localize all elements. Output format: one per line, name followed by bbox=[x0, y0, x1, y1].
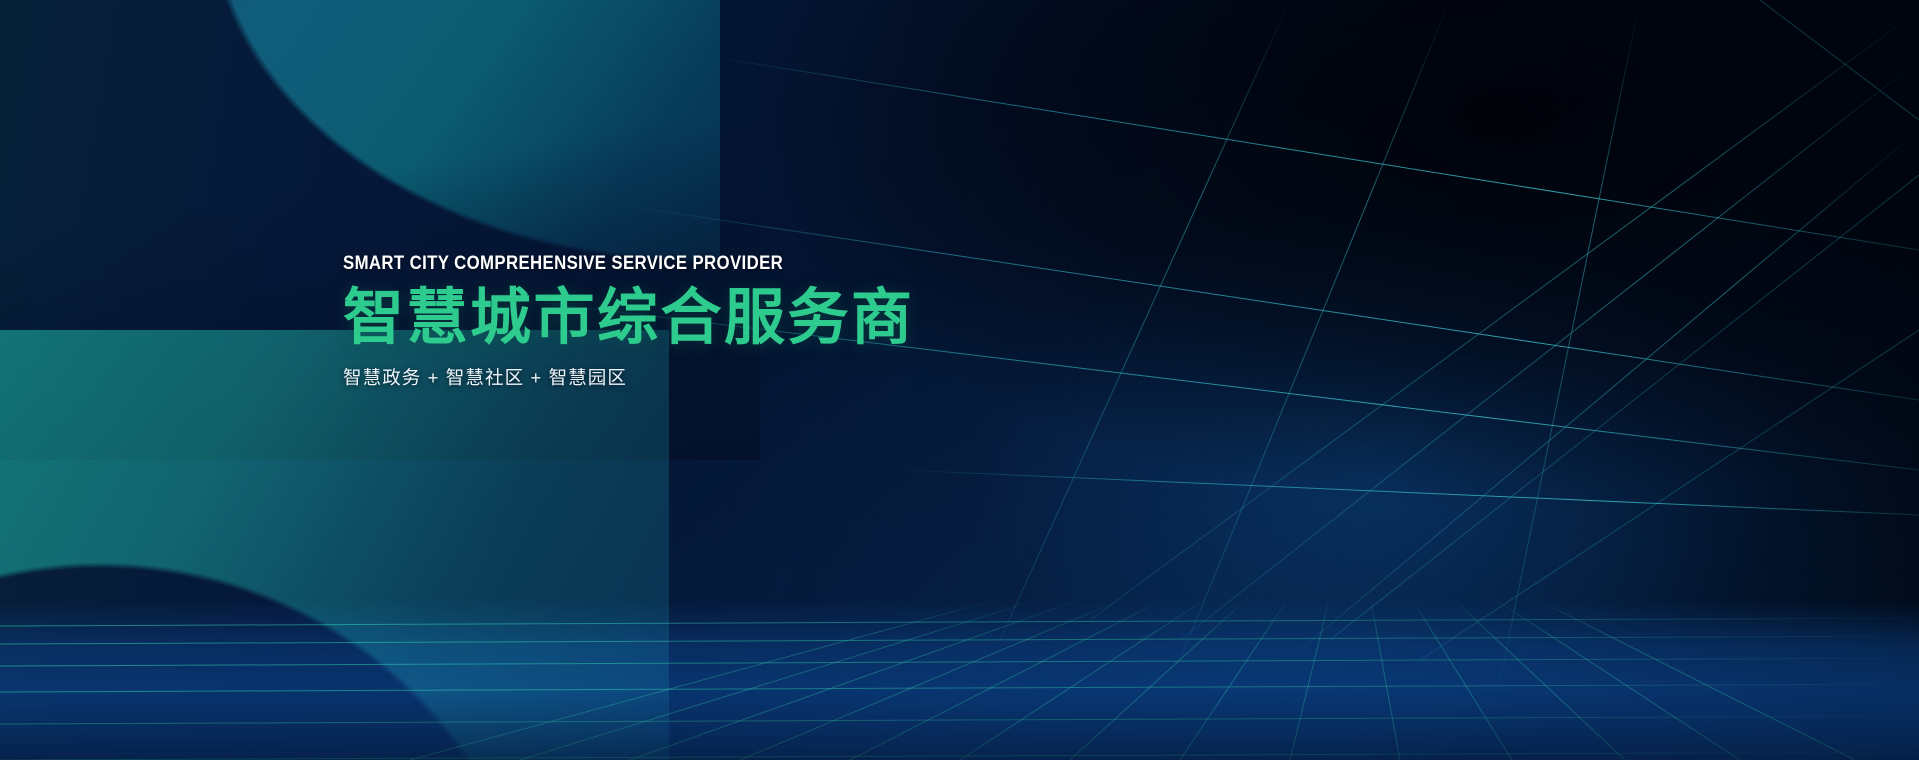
smart-city-hero-banner: SMART CITY COMPREHENSIVE SERVICE PROVIDE… bbox=[0, 0, 1919, 760]
hero-headline: 智慧城市综合服务商 bbox=[343, 286, 983, 348]
city-skyline-illustration bbox=[820, 150, 1919, 760]
hero-subline: 智慧政务 + 智慧社区 + 智慧园区 bbox=[343, 364, 983, 390]
hero-eyebrow: SMART CITY COMPREHENSIVE SERVICE PROVIDE… bbox=[343, 252, 893, 275]
hero-copy-block: SMART CITY COMPREHENSIVE SERVICE PROVIDE… bbox=[343, 252, 983, 390]
bottom-vignette bbox=[0, 690, 1919, 760]
